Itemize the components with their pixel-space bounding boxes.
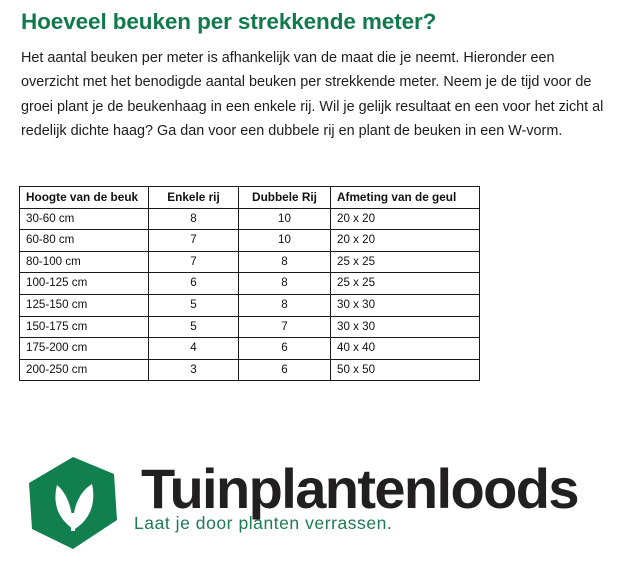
cell-single: 8 (149, 208, 239, 230)
cell-single: 4 (149, 338, 239, 360)
column-header-single: Enkele rij (149, 187, 239, 209)
table-header-row: Hoogte van de beuk Enkele rij Dubbele Ri… (20, 187, 480, 209)
table-row: 30-60 cm 8 10 20 x 20 (20, 208, 480, 230)
column-header-height: Hoogte van de beuk (20, 187, 149, 209)
cell-trench: 25 x 25 (331, 273, 480, 295)
logo-wordmark: Tuinplantenloods (141, 459, 578, 519)
table-row: 80-100 cm 7 8 25 x 25 (20, 251, 480, 273)
cell-double: 7 (239, 316, 331, 338)
cell-trench: 20 x 20 (331, 230, 480, 252)
table-row: 150-175 cm 5 7 30 x 30 (20, 316, 480, 338)
cell-single: 7 (149, 251, 239, 273)
table-row: 60-80 cm 7 10 20 x 20 (20, 230, 480, 252)
cell-height: 200-250 cm (20, 359, 149, 381)
table-header: Hoogte van de beuk Enkele rij Dubbele Ri… (20, 187, 480, 209)
cell-height: 80-100 cm (20, 251, 149, 273)
brand-logo: Tuinplantenloods (29, 457, 615, 549)
table-row: 175-200 cm 4 6 40 x 40 (20, 338, 480, 360)
cell-height: 150-175 cm (20, 316, 149, 338)
cell-trench: 50 x 50 (331, 359, 480, 381)
cell-height: 125-150 cm (20, 294, 149, 316)
cell-height: 60-80 cm (20, 230, 149, 252)
cell-height: 100-125 cm (20, 273, 149, 295)
beech-spacing-table: Hoogte van de beuk Enkele rij Dubbele Ri… (19, 186, 480, 381)
cell-single: 5 (149, 294, 239, 316)
table-row: 100-125 cm 6 8 25 x 25 (20, 273, 480, 295)
table-body: 30-60 cm 8 10 20 x 20 60-80 cm 7 10 20 x… (20, 208, 480, 381)
cell-double: 10 (239, 208, 331, 230)
cell-trench: 40 x 40 (331, 338, 480, 360)
cell-double: 6 (239, 359, 331, 381)
cell-height: 30-60 cm (20, 208, 149, 230)
page-title: Hoeveel beuken per strekkende meter? (21, 8, 601, 36)
cell-trench: 25 x 25 (331, 251, 480, 273)
table-row: 200-250 cm 3 6 50 x 50 (20, 359, 480, 381)
page-root: Hoeveel beuken per strekkende meter? Het… (0, 0, 622, 567)
cell-double: 8 (239, 273, 331, 295)
cell-double: 10 (239, 230, 331, 252)
column-header-double: Dubbele Rij (239, 187, 331, 209)
cell-single: 6 (149, 273, 239, 295)
table-row: 125-150 cm 5 8 30 x 30 (20, 294, 480, 316)
cell-double: 8 (239, 251, 331, 273)
column-header-trench: Afmeting van de geul (331, 187, 480, 209)
cell-height: 175-200 cm (20, 338, 149, 360)
logo-tagline: Laat je door planten verrassen. (134, 512, 392, 534)
cell-single: 5 (149, 316, 239, 338)
cell-double: 8 (239, 294, 331, 316)
cell-double: 6 (239, 338, 331, 360)
cell-trench: 30 x 30 (331, 294, 480, 316)
cell-trench: 20 x 20 (331, 208, 480, 230)
cell-single: 7 (149, 230, 239, 252)
hexagon-leaves-icon (29, 457, 117, 549)
cell-single: 3 (149, 359, 239, 381)
cell-trench: 30 x 30 (331, 316, 480, 338)
intro-paragraph: Het aantal beuken per meter is afhankeli… (21, 46, 606, 143)
